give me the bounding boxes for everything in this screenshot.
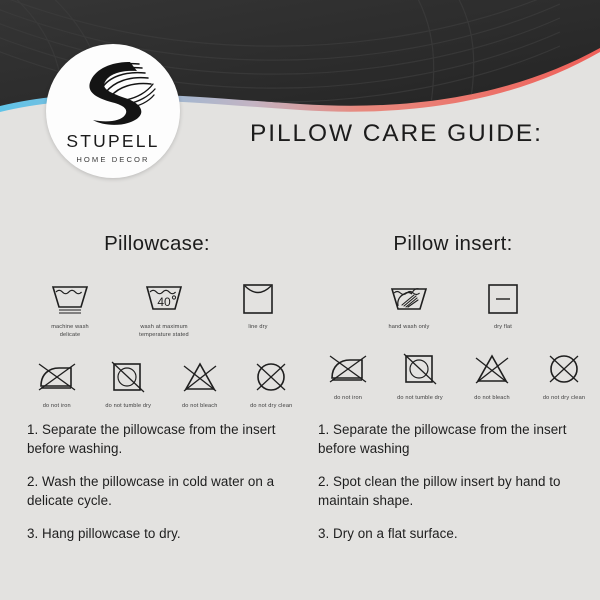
care-symbol-hand-wash-only: hand wash only [377,278,441,331]
page-title: PILLOW CARE GUIDE: [250,120,580,148]
care-symbol-line-dry: line dry [226,278,290,331]
do-not-dry-clean-icon [253,357,289,397]
hand-wash-icon [388,278,430,318]
care-symbol-do-not-iron: do not iron [28,357,86,410]
brand-logo: STUPELL HOME DECOR [46,44,180,178]
care-symbol-caption: dry flat [494,323,512,331]
care-symbol-caption: do not iron [334,394,362,402]
care-symbol-caption: do not bleach [182,402,218,410]
pillowcase-column: Pillowcase: machine washdelicate [28,232,300,410]
pillow-insert-instructions: 1. Separate the pillowcase from the inse… [318,420,590,557]
care-symbol-machine-wash-delicate: machine washdelicate [38,278,102,339]
care-symbol-do-not-bleach: do not bleach [171,357,229,410]
care-symbols-row-2: do not iron do not tumble dry [318,349,594,402]
do-not-tumble-dry-icon [110,357,146,397]
do-not-iron-icon [328,349,368,389]
do-not-bleach-icon [181,357,219,397]
line-dry-icon [240,278,276,318]
wash-tub-40-icon: 40 [143,278,185,318]
care-symbol-do-not-dry-clean: do not dry clean [243,357,301,410]
care-symbol-do-not-tumble-dry: do not tumble dry [100,357,158,410]
care-symbol-caption: do not dry clean [543,394,585,402]
do-not-bleach-icon [473,349,511,389]
brand-name: STUPELL [66,131,159,152]
care-symbol-caption: line dry [248,323,267,331]
care-symbol-caption: wash at maximumtemperature stated [139,323,189,339]
do-not-tumble-dry-icon [402,349,438,389]
care-guide-page: STUPELL HOME DECOR PILLOW CARE GUIDE: Pi… [0,0,600,600]
instruction-step: 3. Dry on a flat surface. [318,524,590,543]
column-heading-pillowcase: Pillowcase: [28,232,300,256]
pillow-insert-column: Pillow insert: [318,232,594,402]
care-symbols-row-1: hand wash only dry flat [318,278,594,331]
care-symbol-do-not-bleach: do not bleach [462,349,522,402]
care-symbol-caption: do not tumble dry [397,394,443,402]
stupell-swoosh-logo [67,56,159,130]
instruction-step: 1. Separate the pillowcase from the inse… [318,420,590,458]
instruction-step: 3. Hang pillowcase to dry. [27,524,295,543]
instruction-step: 2. Spot clean the pillow insert by hand … [318,472,590,510]
instruction-step: 2. Wash the pillowcase in cold water on … [27,472,295,510]
care-symbol-do-not-tumble-dry: do not tumble dry [390,349,450,402]
care-symbol-wash-max-temperature: 40 wash at maximumtemperature stated [128,278,200,339]
column-heading-pillow-insert: Pillow insert: [318,232,594,256]
care-symbol-caption: hand wash only [389,323,430,331]
instruction-step: 1. Separate the pillowcase from the inse… [27,420,295,458]
care-symbol-caption: do not iron [43,402,71,410]
wash-tub-icon [49,278,91,318]
brand-tagline: HOME DECOR [76,155,149,164]
care-symbol-do-not-dry-clean: do not dry clean [534,349,594,402]
pillowcase-instructions: 1. Separate the pillowcase from the inse… [27,420,295,557]
dry-flat-icon [485,278,521,318]
care-symbol-caption: machine washdelicate [51,323,89,339]
care-symbols-row-2: do not iron do not tumble dry [28,357,300,410]
care-symbol-caption: do not bleach [474,394,510,402]
care-symbol-caption: do not dry clean [250,402,292,410]
care-symbols-row-1: machine washdelicate 40 wash at maximumt… [28,278,300,339]
do-not-iron-icon [37,357,77,397]
care-symbol-dry-flat: dry flat [471,278,535,331]
care-symbol-caption: do not tumble dry [105,402,151,410]
svg-text:40: 40 [157,295,171,309]
care-symbol-do-not-iron: do not iron [318,349,378,402]
do-not-dry-clean-icon [546,349,582,389]
